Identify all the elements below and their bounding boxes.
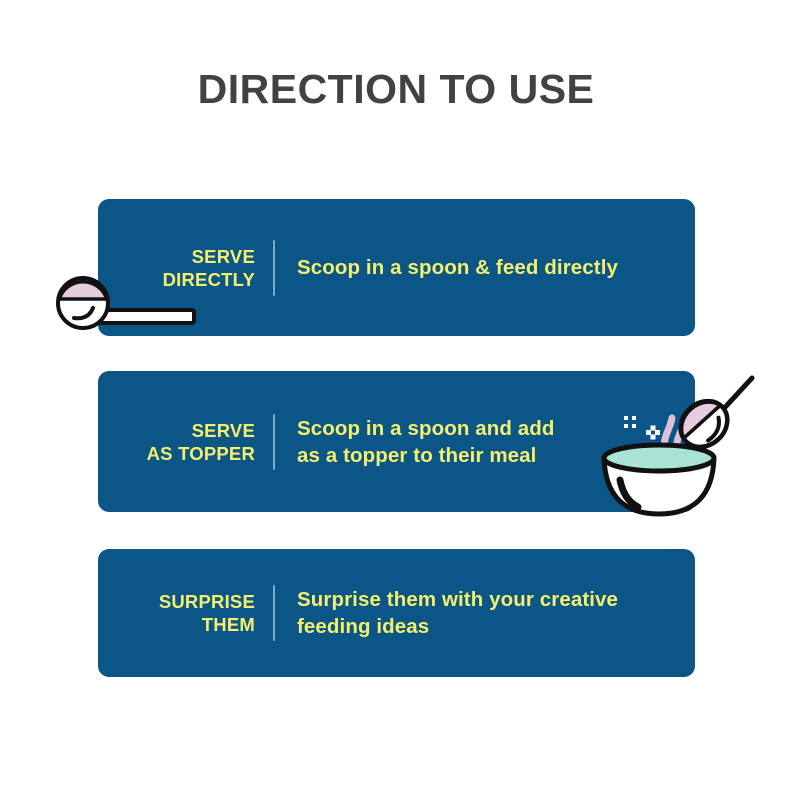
card-description: Surprise them with your creative feeding… bbox=[297, 586, 618, 640]
card-description: Scoop in a spoon & feed directly bbox=[297, 254, 618, 281]
card-divider bbox=[273, 240, 275, 296]
spoon-with-paste-svg bbox=[50, 266, 200, 336]
card-label: SURPRISE THEM bbox=[120, 590, 255, 636]
sparkle-icon bbox=[624, 416, 660, 440]
card-content-row: SURPRISE THEM Surprise them with your cr… bbox=[98, 585, 695, 641]
bowl-with-spoon-and-steam-svg bbox=[586, 362, 761, 527]
card-label: SERVE AS TOPPER bbox=[120, 419, 255, 465]
page-title: DIRECTION TO USE bbox=[0, 66, 792, 113]
card-description: Scoop in a spoon and add as a topper to … bbox=[297, 415, 555, 469]
card-divider bbox=[273, 585, 275, 641]
direction-card-surprise-them: SURPRISE THEM Surprise them with your cr… bbox=[98, 549, 695, 677]
infographic-page: DIRECTION TO USE SERVE DIRECTLY Scoop in… bbox=[0, 0, 792, 792]
spoon-with-paste-icon bbox=[50, 266, 200, 336]
bowl-with-spoon-and-steam-icon bbox=[586, 362, 761, 527]
card-divider bbox=[273, 414, 275, 470]
